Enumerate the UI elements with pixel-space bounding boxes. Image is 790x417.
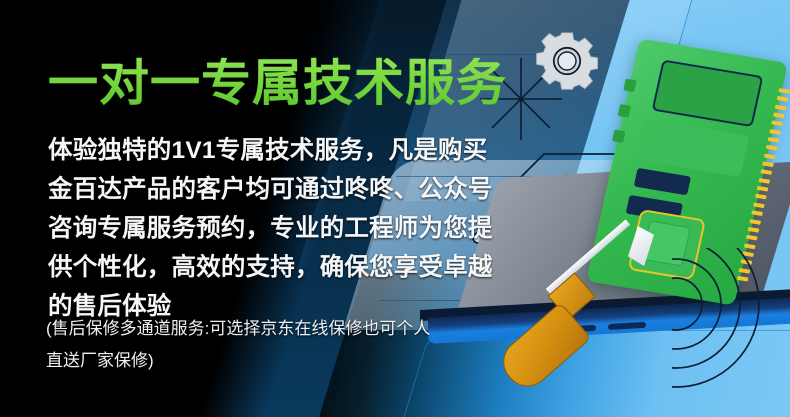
ram-pin	[753, 202, 765, 208]
ram-pin	[775, 104, 787, 110]
ram-pin	[764, 153, 776, 159]
ram-pin	[777, 96, 789, 102]
warranty-note: (售后保修多通道服务:可选择京东在线保修也可个人 直送厂家保修)	[46, 313, 516, 377]
warranty-note-line-2: 直送厂家保修)	[46, 345, 516, 377]
ram-pin	[748, 227, 760, 233]
page-title: 一对一专属技术服务	[48, 58, 507, 108]
body-paragraph: 体验独特的1V1专属技术服务，凡是购买金百达产品的客户均可通过咚咚、公众号咨询专…	[48, 131, 500, 326]
ram-pin	[746, 235, 758, 241]
ram-pin	[757, 186, 769, 192]
concentric-rings-icon	[672, 248, 790, 398]
ram-pin	[760, 170, 772, 176]
ram-pin	[755, 194, 767, 200]
screwdriver-tip	[628, 226, 654, 266]
ram-pin	[771, 121, 783, 127]
warranty-note-line-1: (售后保修多通道服务:可选择京东在线保修也可个人	[46, 313, 516, 345]
ram-pin	[769, 129, 781, 135]
gear-icon	[536, 30, 598, 92]
ram-pin	[751, 210, 763, 216]
ram-pin	[768, 137, 780, 143]
ram-pin	[766, 145, 778, 151]
ram-pin	[778, 88, 790, 94]
screwdriver-shaft	[546, 219, 631, 294]
ram-pin	[749, 219, 761, 225]
promo-banner: 一对一专属技术服务 体验独特的1V1专属技术服务，凡是购买金百达产品的客户均可通…	[0, 0, 790, 417]
ram-pin	[762, 161, 774, 167]
ram-pin	[773, 113, 785, 119]
ram-pin	[758, 178, 770, 184]
